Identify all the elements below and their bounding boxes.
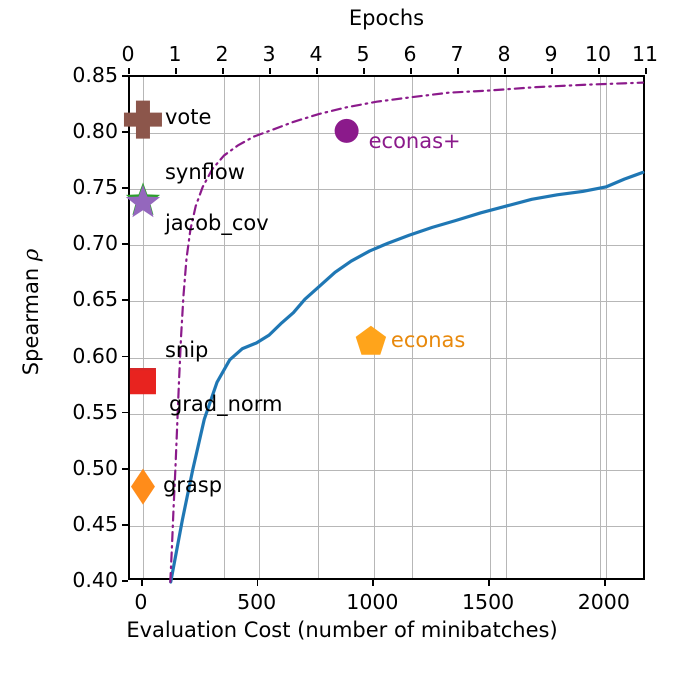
y-tick-label: 0.60 xyxy=(72,344,118,368)
annotation-grasp: grasp xyxy=(163,473,222,497)
top-tick-label: 9 xyxy=(544,42,557,66)
top-tick-mark xyxy=(551,68,553,74)
top-tick-label: 1 xyxy=(168,42,181,66)
x-tick-label: 0 xyxy=(134,590,147,614)
top-tick-label: 3 xyxy=(262,42,275,66)
marker-shape xyxy=(335,119,359,143)
x-tick-label: 1000 xyxy=(346,590,398,614)
top-tick-label: 0 xyxy=(121,42,134,66)
marker-plus-filled xyxy=(124,101,162,139)
y-tick-mark xyxy=(122,580,128,582)
y-tick-label: 0.40 xyxy=(72,568,118,592)
y-tick-label: 0.65 xyxy=(72,287,118,311)
y-tick-label: 0.80 xyxy=(72,119,118,143)
top-tick-label: 10 xyxy=(585,42,611,66)
marker-diamond xyxy=(131,469,155,505)
marker-circle xyxy=(335,119,359,143)
x-tick-label: 2000 xyxy=(578,590,630,614)
marker-pentagon xyxy=(356,326,386,355)
marker-star xyxy=(126,185,160,218)
top-tick-mark xyxy=(269,68,271,74)
y-tick-label: 0.70 xyxy=(72,231,118,255)
x-tick-label: 1500 xyxy=(462,590,514,614)
top-tick-mark xyxy=(316,68,318,74)
annotation-jacob-cov: jacob_cov xyxy=(165,211,269,235)
top-tick-label: 8 xyxy=(497,42,510,66)
top-tick-label: 2 xyxy=(215,42,228,66)
top-tick-mark xyxy=(457,68,459,74)
y-tick-label: 0.55 xyxy=(72,400,118,424)
y-tick-label: 0.50 xyxy=(72,456,118,480)
annotation-econas: econas xyxy=(391,328,465,352)
top-tick-mark xyxy=(598,68,600,74)
y-axis-title: Spearman ρ xyxy=(19,197,43,427)
annotation-synflow: synflow xyxy=(165,160,245,184)
y-tick-label: 0.45 xyxy=(72,512,118,536)
annotation-econas-: econas+ xyxy=(369,129,461,153)
y-tick-label: 0.75 xyxy=(72,175,118,199)
plot-area: votesynflowjacob_covsnipgrad_normgraspec… xyxy=(128,75,645,580)
top-tick-label: 7 xyxy=(450,42,463,66)
y-tick-label: 0.85 xyxy=(72,63,118,87)
marker-shape xyxy=(124,101,162,139)
top-tick-mark xyxy=(410,68,412,74)
x-tick-label: 500 xyxy=(237,590,276,614)
annotation-vote: vote xyxy=(165,105,211,129)
marker-shape xyxy=(356,326,386,355)
top-tick-mark xyxy=(363,68,365,74)
annotation-grad-norm: grad_norm xyxy=(169,392,283,416)
top-tick-mark xyxy=(504,68,506,74)
figure: Epochs Spearman ρ Evaluation Cost (numbe… xyxy=(0,0,684,683)
top-tick-label: 11 xyxy=(632,42,658,66)
top-tick-mark xyxy=(128,68,130,74)
top-axis-title: Epochs xyxy=(128,6,645,30)
marker-square xyxy=(130,370,156,394)
top-tick-label: 4 xyxy=(309,42,322,66)
top-tick-label: 5 xyxy=(356,42,369,66)
marker-shape xyxy=(130,370,156,394)
x-axis-title: Evaluation Cost (number of minibatches) xyxy=(0,618,684,642)
top-tick-mark xyxy=(645,68,647,74)
annotation-snip: snip xyxy=(165,338,208,362)
marker-shape xyxy=(126,185,160,218)
marker-shape xyxy=(131,469,155,505)
top-tick-mark xyxy=(222,68,224,74)
top-tick-mark xyxy=(175,68,177,74)
top-tick-label: 6 xyxy=(403,42,416,66)
